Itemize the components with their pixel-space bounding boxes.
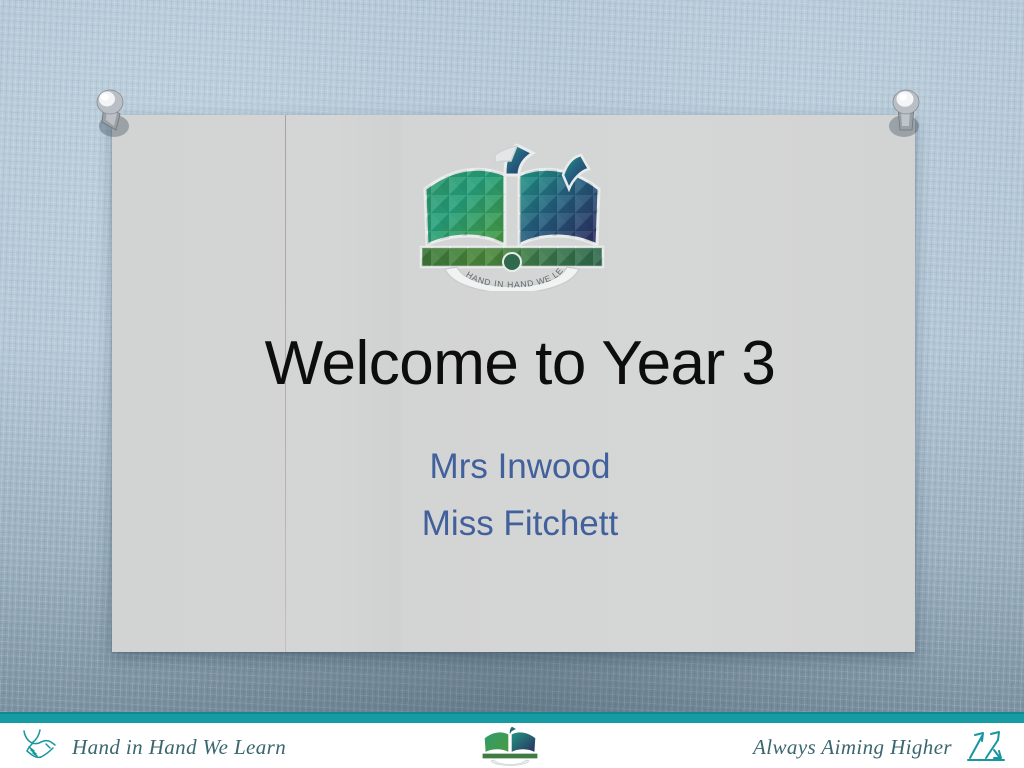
crest-right-page [519,169,599,245]
crest-left-page [425,169,505,245]
handshake-icon [20,728,60,767]
slide-subtitle: Mrs Inwood Miss Fitchett [150,438,890,552]
footer-left-group: Hand in Hand We Learn [20,728,286,767]
slide-footer: Hand in Hand We Learn [0,723,1024,768]
footer-right-motto: Always Aiming Higher [753,735,952,760]
school-crest-logo: HAND IN HAND WE LEARN [413,141,611,291]
slide-title: Welcome to Year 3 [150,321,890,407]
subtitle-line-1: Mrs Inwood [150,438,890,495]
footer-right-group: Always Aiming Higher [753,728,1006,767]
footer-left-motto: Hand in Hand We Learn [72,735,286,760]
presentation-slide: HAND IN HAND WE LEARN Welcome to Year 3 … [0,0,1024,768]
footer-center-group [478,725,542,767]
school-crest-icon [478,754,542,768]
subtitle-line-2: Miss Fitchett [150,495,890,552]
crest-base-bar [421,247,603,271]
rising-arrows-icon [966,728,1006,767]
